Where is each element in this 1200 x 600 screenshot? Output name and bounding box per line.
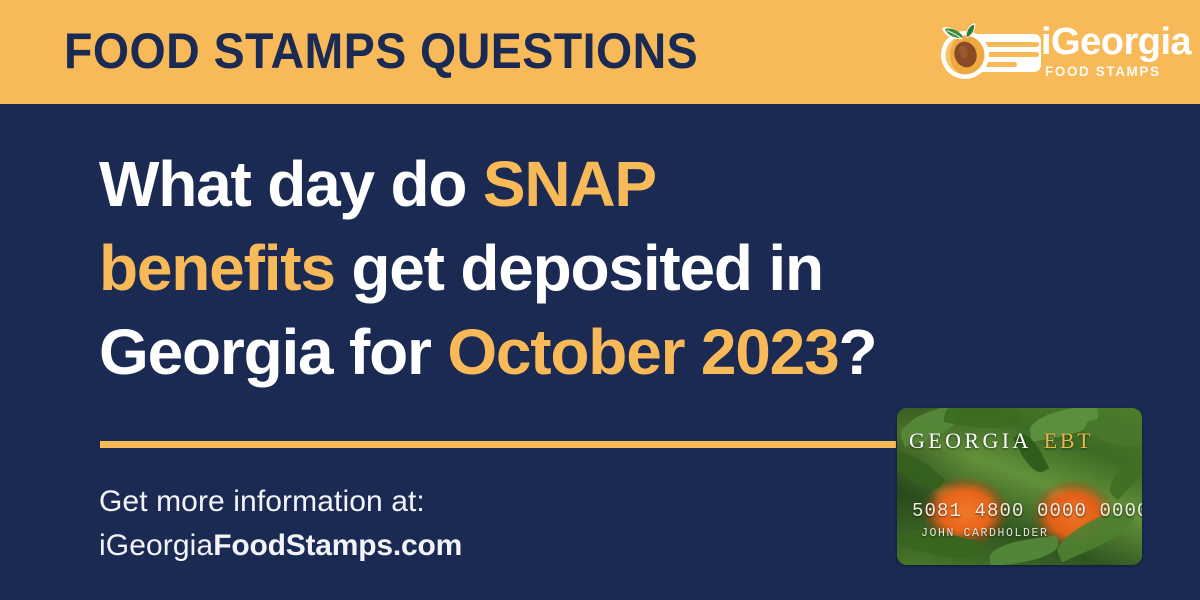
headline-segment-accent: SNAP: [483, 148, 656, 220]
ebt-card-number: 5081 4800 0000 0000: [912, 501, 1142, 521]
food-stamps-question-banner: FOOD STAMPS QUESTIONS: [0, 0, 1200, 600]
cta-label: Get more information at:: [99, 480, 699, 524]
headline-segment-accent: benefits: [99, 232, 335, 304]
headline-segment: ?: [838, 316, 876, 388]
website-url-suffix: FoodStamps.com: [213, 529, 462, 562]
footer-cta: Get more information at: iGeorgiaFoodSta…: [99, 480, 699, 568]
headline-segment-accent: October 2023: [447, 316, 838, 388]
headline-line-2: benefits get deposited in: [99, 226, 1059, 310]
headline-line-3: Georgia for October 2023?: [99, 310, 1059, 394]
website-url-prefix: iGeorgia: [99, 529, 213, 562]
headline-segment: What day do: [99, 148, 483, 220]
georgia-ebt-card: GEORGIAEBT 5081 4800 0000 0000 JOHN CARD…: [897, 408, 1142, 565]
ebt-cardholder-name: JOHN CARDHOLDER: [921, 528, 1049, 540]
accent-divider: [100, 441, 896, 448]
header-band: FOOD STAMPS QUESTIONS: [0, 0, 1200, 104]
logo-tagline: FOOD STAMPS: [1045, 65, 1161, 79]
headline-segment: Georgia for: [99, 316, 447, 388]
headline: What day do SNAP benefits get deposited …: [99, 142, 1059, 394]
leaf-shape: [1103, 452, 1142, 500]
igeorgia-logo[interactable]: iGeorgia FOOD STAMPS: [933, 22, 1168, 84]
logo-wordmark: iGeorgia: [1041, 20, 1191, 64]
headline-line-1: What day do SNAP: [99, 142, 1059, 226]
logo-wordmark-group: iGeorgia FOOD STAMPS: [1041, 22, 1169, 84]
ebt-card-brand: GEORGIAEBT: [909, 429, 1131, 453]
peach-ebt-card-logo-icon: [933, 22, 1045, 84]
ebt-card-state: GEORGIA: [909, 428, 1032, 453]
headline-segment: get deposited in: [335, 232, 823, 304]
header-title: FOOD STAMPS QUESTIONS: [64, 26, 698, 76]
ebt-card-program: EBT: [1044, 428, 1093, 453]
website-url[interactable]: iGeorgiaFoodStamps.com: [99, 524, 699, 568]
